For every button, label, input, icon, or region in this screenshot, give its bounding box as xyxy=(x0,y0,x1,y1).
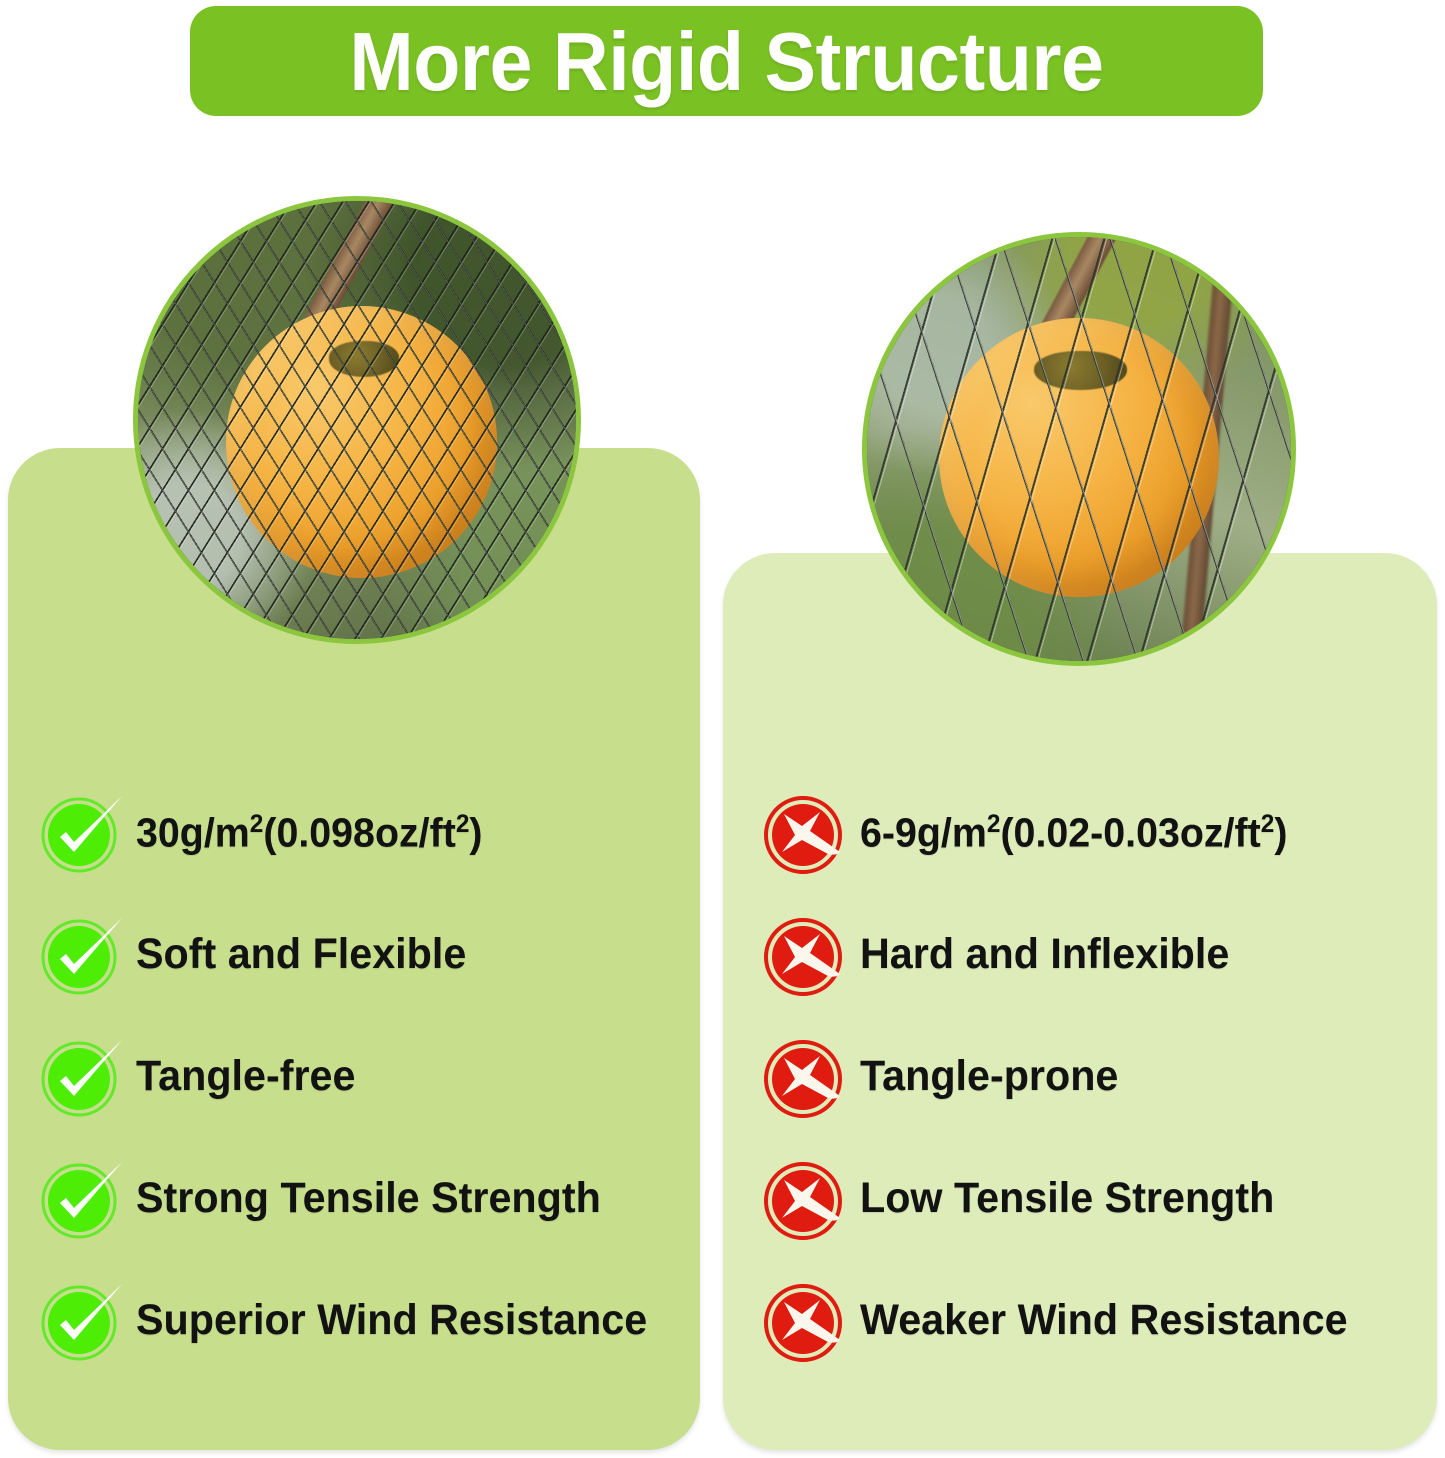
list-item: Soft and Flexible xyxy=(38,894,698,1016)
cross-icon xyxy=(762,912,848,998)
list-item-label: Low Tensile Strength xyxy=(860,1176,1274,1221)
list-item: Superior Wind Resistance xyxy=(38,1260,698,1382)
list-item: Weaker Wind Resistance xyxy=(762,1260,1438,1382)
coarse-netting-highlight xyxy=(867,237,1291,661)
cross-icon xyxy=(762,1278,848,1364)
check-icon xyxy=(38,790,124,876)
list-item-label: 30g/m2(0.098oz/ft2) xyxy=(136,811,483,855)
cross-icon xyxy=(762,1034,848,1120)
list-item: Tangle-prone xyxy=(762,1016,1438,1138)
list-item-label: Soft and Flexible xyxy=(136,932,466,977)
list-item-label: Hard and Inflexible xyxy=(860,932,1229,977)
list-item-label: Weaker Wind Resistance xyxy=(860,1298,1348,1343)
left-photo-content xyxy=(138,201,576,639)
list-item: Low Tensile Strength xyxy=(762,1138,1438,1260)
list-item: 30g/m2(0.098oz/ft2) xyxy=(38,772,698,894)
cross-icon xyxy=(762,790,848,876)
check-icon xyxy=(38,912,124,998)
list-item-label: Tangle-prone xyxy=(860,1054,1118,1099)
list-item-label: Tangle-free xyxy=(136,1054,355,1099)
title-banner: More Rigid Structure xyxy=(190,6,1263,116)
list-item: 6-9g/m2(0.02-0.03oz/ft2) xyxy=(762,772,1438,894)
right-feature-list: 6-9g/m2(0.02-0.03oz/ft2) Hard and Inflex… xyxy=(762,772,1438,1382)
page-title: More Rigid Structure xyxy=(349,20,1103,103)
right-photo-content xyxy=(867,237,1291,661)
check-icon xyxy=(38,1156,124,1242)
right-product-photo xyxy=(862,232,1296,666)
left-feature-list: 30g/m2(0.098oz/ft2) Soft and Flexible Ta… xyxy=(38,772,698,1382)
fine-netting-highlight xyxy=(138,201,576,639)
list-item: Strong Tensile Strength xyxy=(38,1138,698,1260)
list-item-label: Strong Tensile Strength xyxy=(136,1176,601,1221)
list-item: Hard and Inflexible xyxy=(762,894,1438,1016)
list-item-label: Superior Wind Resistance xyxy=(136,1298,647,1343)
left-product-photo xyxy=(133,196,581,644)
list-item-label: 6-9g/m2(0.02-0.03oz/ft2) xyxy=(860,811,1287,855)
check-icon xyxy=(38,1278,124,1364)
check-icon xyxy=(38,1034,124,1120)
cross-icon xyxy=(762,1156,848,1242)
list-item: Tangle-free xyxy=(38,1016,698,1138)
